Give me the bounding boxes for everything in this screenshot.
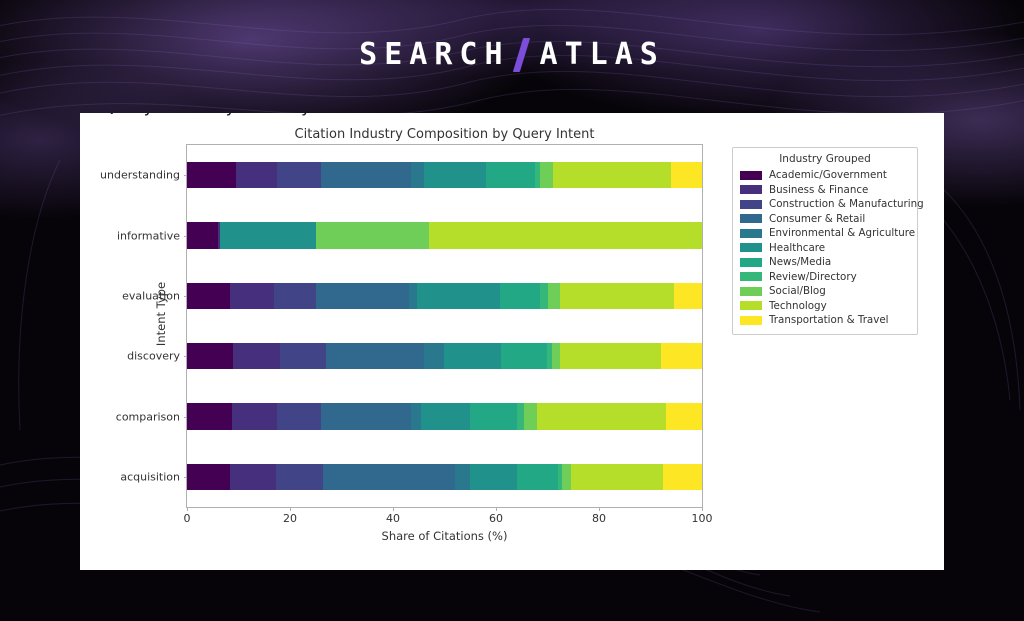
legend-item[interactable]: Business & Finance (740, 183, 910, 198)
bar-segment[interactable] (537, 403, 666, 429)
bar-segment[interactable] (540, 162, 553, 188)
bar-segment[interactable] (321, 162, 411, 188)
bar-segment[interactable] (230, 464, 276, 490)
legend-swatch-icon (740, 185, 762, 194)
bar-row (187, 403, 702, 429)
bar-segment[interactable] (429, 222, 702, 248)
stacked-bar[interactable] (187, 343, 702, 369)
bar-segment[interactable] (517, 464, 558, 490)
bar-segment[interactable] (417, 283, 500, 309)
y-tick-mark (184, 356, 188, 357)
bar-row (187, 222, 702, 248)
stacked-bar[interactable] (187, 403, 702, 429)
legend-label: Technology (769, 300, 827, 312)
bar-segment[interactable] (470, 464, 516, 490)
x-tick-mark (290, 507, 291, 511)
logo-word-search: SEARCH (359, 37, 509, 72)
legend-swatch-icon (740, 258, 762, 267)
legend-item[interactable]: Review/Directory (740, 270, 910, 285)
legend-swatch-icon (740, 229, 762, 238)
bar-segment[interactable] (553, 162, 671, 188)
legend-label: Transportation & Travel (769, 314, 889, 326)
legend-swatch-icon (740, 214, 762, 223)
bar-segment[interactable] (233, 343, 279, 369)
x-tick-label: 20 (283, 512, 297, 525)
bar-segment[interactable] (230, 283, 274, 309)
plot-area: Intent Type understandinginformativeeval… (186, 144, 703, 508)
legend-label: Academic/Government (769, 169, 887, 181)
bar-segment[interactable] (501, 343, 547, 369)
bar-segment[interactable] (326, 343, 424, 369)
legend-item[interactable]: Environmental & Agriculture (740, 226, 910, 241)
legend-swatch-icon (740, 272, 762, 281)
legend-label: Construction & Manufacturing (769, 198, 924, 210)
bar-segment[interactable] (187, 222, 218, 248)
bar-segment[interactable] (323, 464, 454, 490)
legend-label: Review/Directory (769, 271, 857, 283)
bar-segment[interactable] (666, 403, 702, 429)
legend-item[interactable]: Construction & Manufacturing (740, 197, 910, 212)
legend-item[interactable]: Healthcare (740, 241, 910, 256)
bar-segment[interactable] (187, 343, 233, 369)
bar-segment[interactable] (321, 403, 411, 429)
stacked-bars (187, 145, 702, 507)
legend-swatch-icon (740, 243, 762, 252)
x-tick-label: 60 (489, 512, 503, 525)
x-tick-label: 40 (386, 512, 400, 525)
bar-segment[interactable] (411, 403, 421, 429)
y-tick-label: informative (117, 229, 180, 242)
bar-segment[interactable] (187, 464, 230, 490)
bar-segment[interactable] (470, 403, 516, 429)
stacked-bar[interactable] (187, 162, 702, 188)
chart-title: Citation Industry Composition by Query I… (186, 127, 703, 142)
bar-segment[interactable] (232, 403, 277, 429)
bar-segment[interactable] (486, 162, 535, 188)
chart-figure: Citation Industry Composition by Query I… (80, 113, 944, 570)
bar-segment[interactable] (274, 283, 316, 309)
x-tick-mark (496, 507, 497, 511)
legend-swatch-icon (740, 200, 762, 209)
bar-segment[interactable] (548, 283, 560, 309)
bar-segment[interactable] (277, 403, 321, 429)
bar-segment[interactable] (571, 464, 664, 490)
legend-item[interactable]: Technology (740, 299, 910, 314)
y-tick-mark (184, 477, 188, 478)
legend-label: Consumer & Retail (769, 213, 865, 225)
legend-item[interactable]: Transportation & Travel (740, 313, 910, 328)
y-tick-label: understanding (100, 169, 180, 182)
legend-title: Industry Grouped (740, 153, 910, 165)
bar-segment[interactable] (455, 464, 470, 490)
legend-item[interactable]: Social/Blog (740, 284, 910, 299)
x-tick-label: 100 (692, 512, 713, 525)
legend-label: Social/Blog (769, 285, 826, 297)
bar-segment[interactable] (562, 464, 571, 490)
stacked-bar[interactable] (187, 222, 702, 248)
legend-swatch-icon (740, 301, 762, 310)
x-tick-mark (393, 507, 394, 511)
bar-segment[interactable] (220, 222, 315, 248)
bar-segment[interactable] (276, 464, 323, 490)
bar-segment[interactable] (187, 283, 230, 309)
bar-segment[interactable] (421, 403, 470, 429)
bar-row (187, 162, 702, 188)
bar-segment[interactable] (661, 343, 702, 369)
legend-swatch-icon (740, 287, 762, 296)
y-tick-mark (184, 175, 188, 176)
y-tick-label: discovery (127, 350, 180, 363)
bar-segment[interactable] (316, 283, 409, 309)
x-tick-label: 80 (592, 512, 606, 525)
screenshot-root: SEARCH ATLAS Query Intent by Industry Ci… (0, 0, 1024, 621)
bar-segment[interactable] (663, 464, 702, 490)
x-tick-mark (702, 507, 703, 511)
legend-item[interactable]: Academic/Government (740, 168, 910, 183)
logo-slash-icon (512, 38, 529, 72)
stacked-bar[interactable] (187, 283, 702, 309)
legend-items: Academic/GovernmentBusiness & FinanceCon… (740, 168, 910, 328)
bar-segment[interactable] (540, 283, 548, 309)
legend-swatch-icon (740, 171, 762, 180)
x-tick-label: 0 (184, 512, 191, 525)
bar-segment[interactable] (674, 283, 702, 309)
bar-segment[interactable] (187, 403, 232, 429)
y-tick-mark (184, 236, 188, 237)
y-tick-label: comparison (116, 410, 180, 423)
bar-segment[interactable] (500, 283, 540, 309)
x-axis-label: Share of Citations (%) (187, 529, 702, 543)
bar-segment[interactable] (552, 343, 561, 369)
legend-label: Environmental & Agriculture (769, 227, 915, 239)
legend-item[interactable]: News/Media (740, 255, 910, 270)
y-tick-mark (184, 417, 188, 418)
search-atlas-logo: SEARCH ATLAS (0, 37, 1024, 72)
legend-label: Healthcare (769, 242, 825, 254)
legend-label: News/Media (769, 256, 831, 268)
bar-segment[interactable] (316, 222, 429, 248)
y-tick-label: evaluation (122, 289, 180, 302)
logo-word-atlas: ATLAS (540, 37, 665, 72)
x-tick-mark (599, 507, 600, 511)
chart-card: Query Intent by Industry Citation Indust… (80, 113, 944, 570)
legend-swatch-icon (740, 316, 762, 325)
bar-segment[interactable] (187, 162, 236, 188)
bar-segment[interactable] (424, 162, 486, 188)
bar-segment[interactable] (517, 403, 525, 429)
bar-segment[interactable] (671, 162, 702, 188)
bar-segment[interactable] (236, 162, 277, 188)
bar-segment[interactable] (524, 403, 537, 429)
bar-segment[interactable] (411, 162, 424, 188)
bar-segment[interactable] (409, 283, 417, 309)
bar-segment[interactable] (560, 343, 660, 369)
bar-segment[interactable] (444, 343, 501, 369)
legend-item[interactable]: Consumer & Retail (740, 212, 910, 227)
x-tick-mark (187, 507, 188, 511)
bar-row (187, 283, 702, 309)
chart-legend: Industry Grouped Academic/GovernmentBusi… (732, 147, 918, 335)
stacked-bar[interactable] (187, 464, 702, 490)
bar-segment[interactable] (280, 343, 326, 369)
y-tick-label: acquisition (120, 470, 180, 483)
y-tick-mark (184, 296, 188, 297)
legend-label: Business & Finance (769, 184, 868, 196)
bar-segment[interactable] (560, 283, 675, 309)
bar-segment[interactable] (424, 343, 445, 369)
bar-row (187, 343, 702, 369)
bar-row (187, 464, 702, 490)
bar-segment[interactable] (277, 162, 321, 188)
